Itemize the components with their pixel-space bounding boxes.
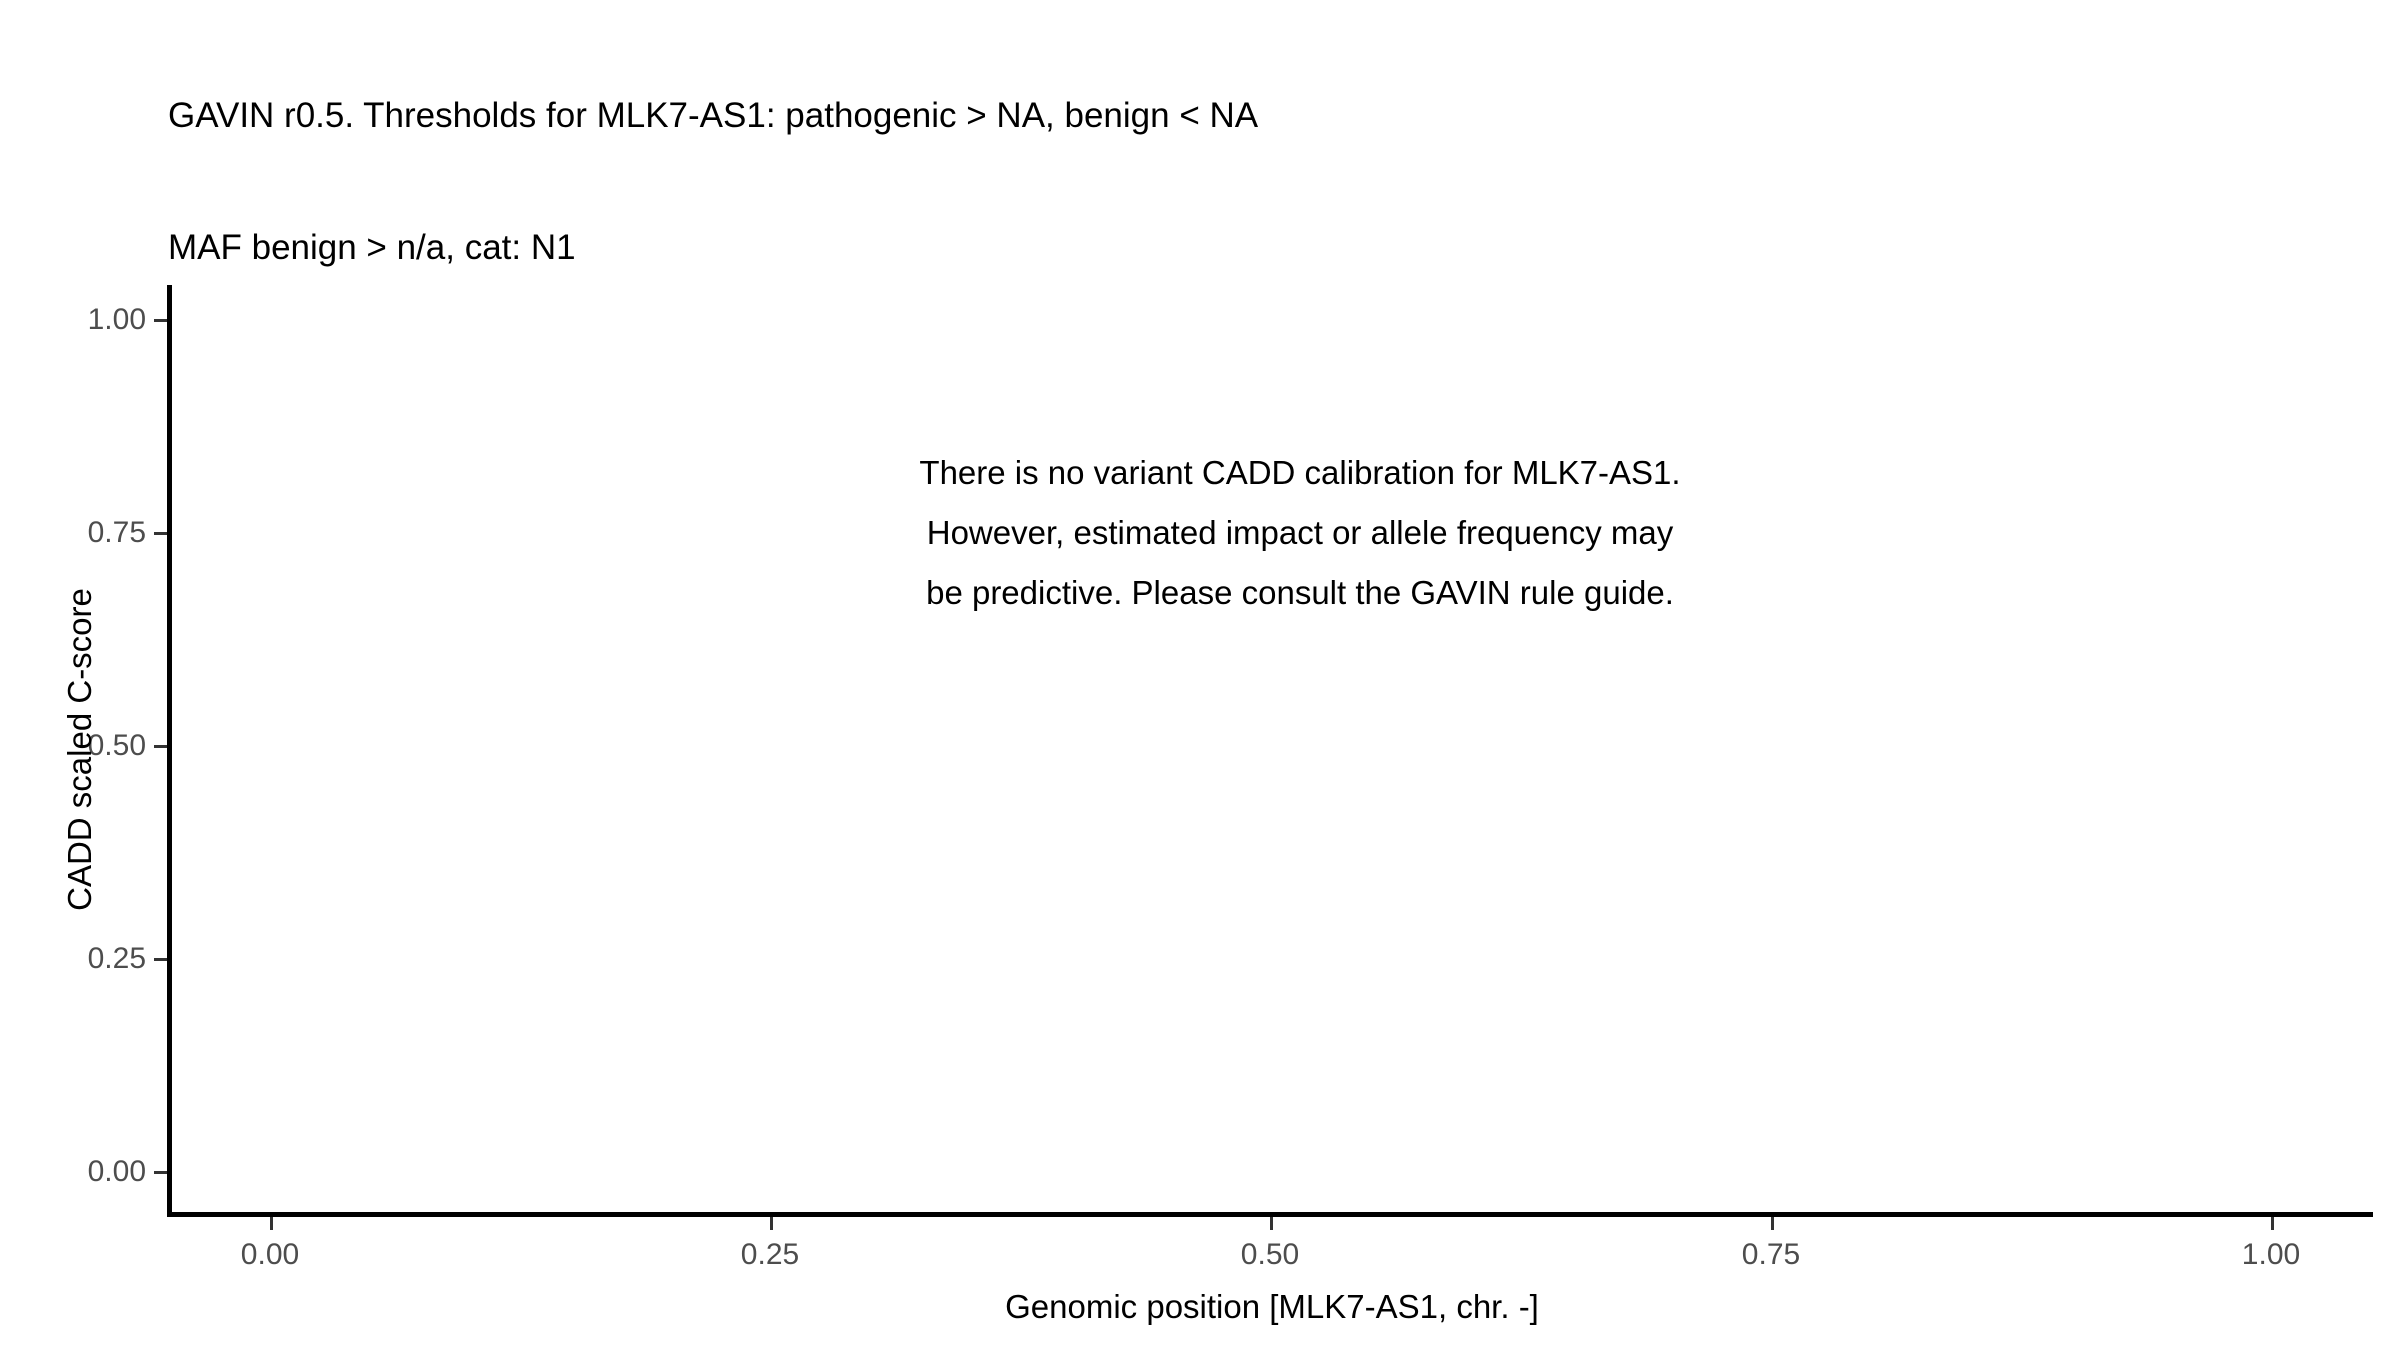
annotation-line-2: However, estimated impact or allele freq… xyxy=(600,503,2000,563)
x-tick-mark-0.75 xyxy=(1771,1217,1774,1230)
x-axis-title: Genomic position [MLK7-AS1, chr. -] xyxy=(171,1288,2373,1326)
x-tick-label-0.00: 0.00 xyxy=(241,1238,299,1272)
x-tick-label-0.25: 0.25 xyxy=(741,1238,799,1272)
annotation-line-1: There is no variant CADD calibration for… xyxy=(600,443,2000,503)
chart-canvas: GAVIN r0.5. Thresholds for MLK7-AS1: pat… xyxy=(0,0,2400,1350)
x-tick-mark-0.00 xyxy=(270,1217,273,1230)
annotation-line-3: be predictive. Please consult the GAVIN … xyxy=(600,563,2000,623)
x-tick-mark-0.25 xyxy=(770,1217,773,1230)
y-tick-mark-0.25 xyxy=(154,958,167,961)
y-axis-line xyxy=(167,285,172,1217)
x-tick-label-1.00: 1.00 xyxy=(2242,1238,2300,1272)
y-tick-mark-0.00 xyxy=(154,1171,167,1174)
plot-panel xyxy=(171,285,2373,1214)
no-calibration-annotation: There is no variant CADD calibration for… xyxy=(600,443,2000,623)
chart-title-line-1: GAVIN r0.5. Thresholds for MLK7-AS1: pat… xyxy=(168,94,2168,138)
x-tick-label-0.75: 0.75 xyxy=(1742,1238,1800,1272)
x-tick-mark-1.00 xyxy=(2271,1217,2274,1230)
x-tick-mark-0.50 xyxy=(1270,1217,1273,1230)
x-tick-label-0.50: 0.50 xyxy=(1241,1238,1299,1272)
y-tick-mark-0.50 xyxy=(154,745,167,748)
chart-title-line-2: MAF benign > n/a, cat: N1 xyxy=(168,226,2168,270)
y-axis-title: CADD scaled C-score xyxy=(52,285,108,1214)
y-tick-mark-0.75 xyxy=(154,532,167,535)
y-tick-mark-1.00 xyxy=(154,319,167,322)
